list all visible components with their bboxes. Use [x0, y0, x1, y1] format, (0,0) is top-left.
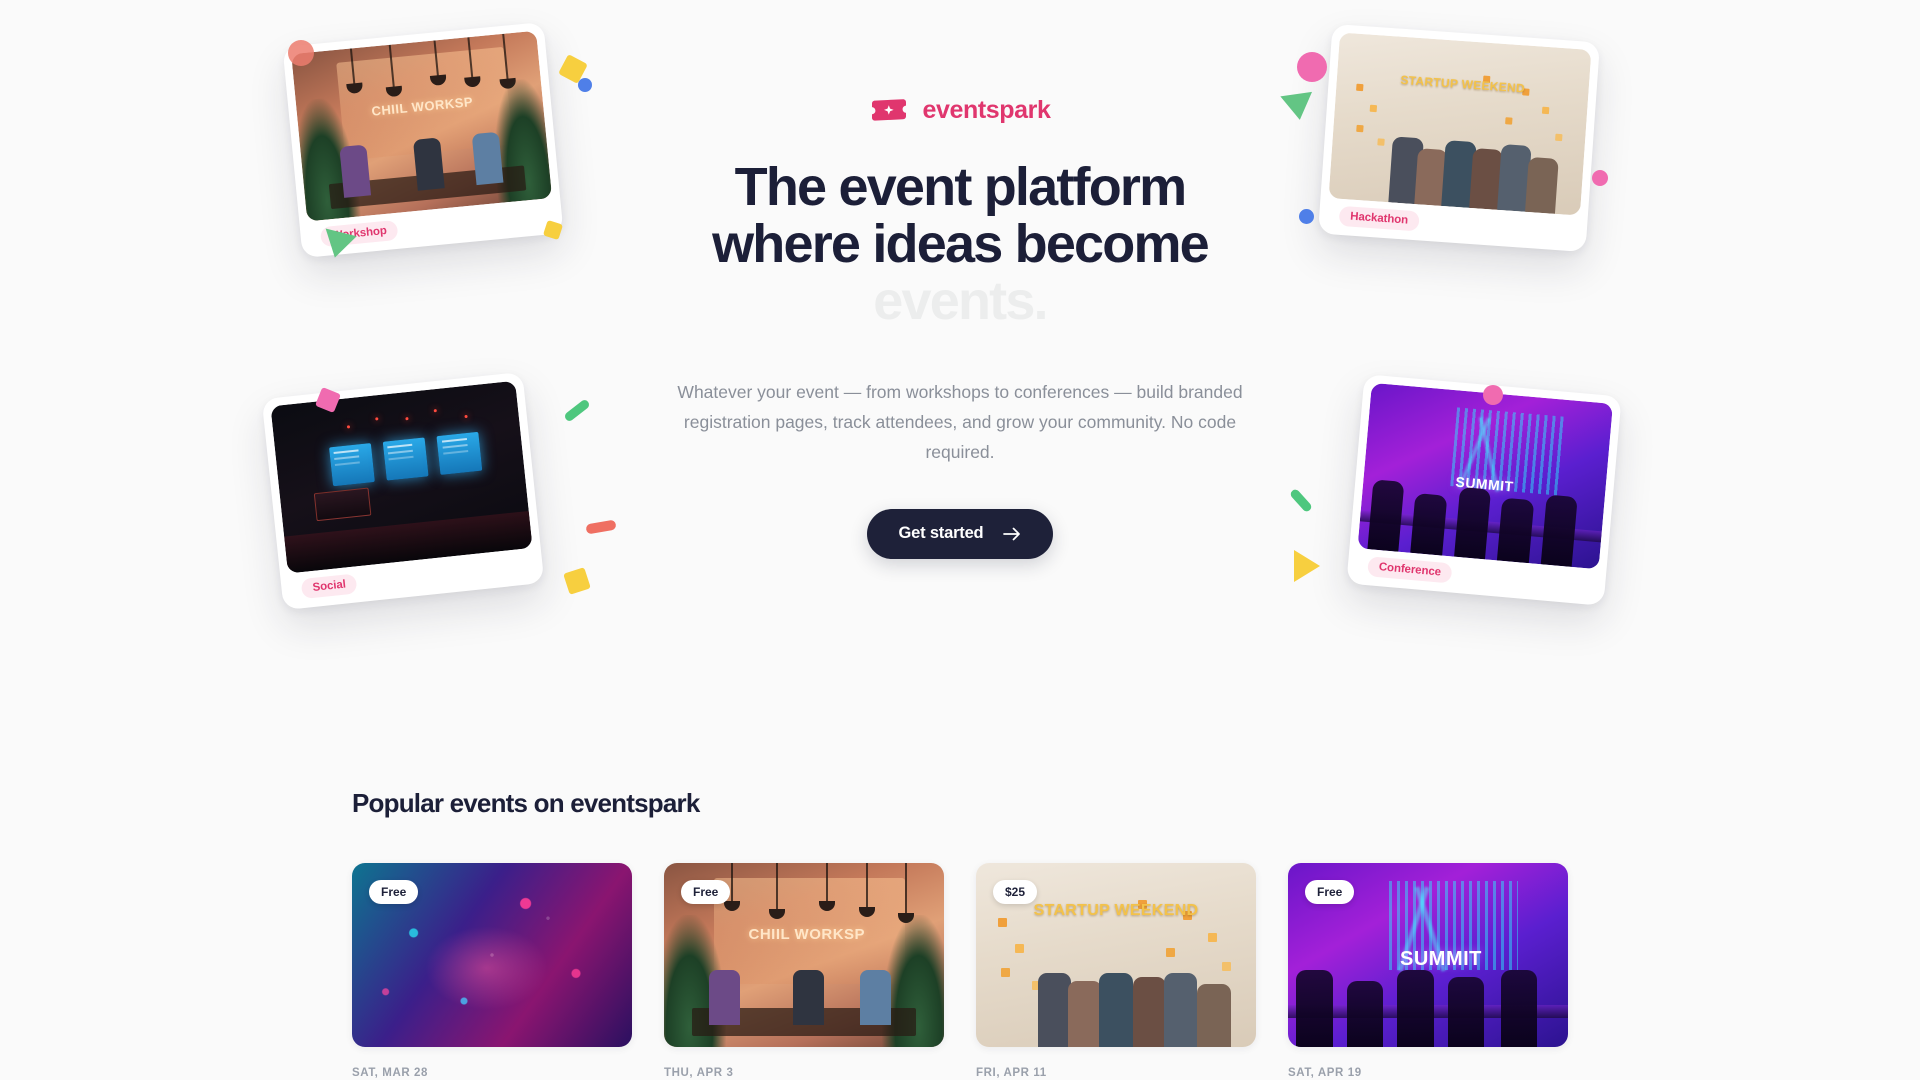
floating-card-badge: Hackathon	[1339, 206, 1420, 232]
hero-subtitle: Whatever your event — from workshops to …	[640, 377, 1280, 467]
hero-section: CHIIL WORKSP Workshop	[0, 0, 1920, 700]
ticket-sparkle-icon	[869, 97, 909, 124]
photo-caption-text: STARTUP WEEKEND	[1032, 903, 1200, 920]
photo-caption-text: SUMMIT	[1400, 948, 1562, 971]
arrow-right-icon	[1003, 527, 1021, 541]
decor-circle-blue-2	[1299, 209, 1314, 224]
event-price-badge: Free	[1305, 880, 1354, 904]
decor-circle-coral	[288, 40, 314, 66]
headline-line-2: where ideas become	[640, 216, 1280, 273]
photo-caption-text: CHIIL WORKSP	[726, 926, 888, 943]
event-price-badge: Free	[681, 880, 730, 904]
events-grid: Free SAT, MAR 28 AI hackathon CHIIL WORK…	[352, 863, 1568, 1080]
page-title: The event platform where ideas become ev…	[640, 159, 1280, 331]
floating-card-photo: CHIIL WORKSP	[291, 31, 552, 222]
decor-bar-coral	[585, 519, 616, 534]
decor-circle-pink	[1297, 52, 1327, 82]
event-date: THU, APR 3	[664, 1067, 944, 1079]
decor-bar-green	[563, 398, 591, 422]
popular-events-section: Popular events on eventspark Free SAT, M…	[0, 700, 1920, 1080]
decor-square-yellow-3	[563, 567, 591, 595]
decor-triangle-green-2	[1280, 92, 1315, 122]
section-title: Popular events on eventspark	[352, 700, 1568, 819]
get-started-label: Get started	[899, 524, 984, 543]
floating-card-badge: Social	[301, 573, 358, 599]
event-price-badge: Free	[369, 880, 418, 904]
event-date: FRI, APR 11	[976, 1067, 1256, 1079]
decor-triangle-yellow	[1294, 550, 1320, 582]
brand-logo[interactable]: eventspark	[640, 96, 1280, 125]
event-date: SAT, MAR 28	[352, 1067, 632, 1079]
floating-card-workshop[interactable]: CHIIL WORKSP Workshop	[282, 22, 563, 258]
event-price-badge: $25	[993, 880, 1037, 904]
decor-circle-pink-3	[1483, 385, 1503, 405]
event-card[interactable]: CHIIL WORKSP Free THU, APR 3 Chill cowor…	[664, 863, 944, 1080]
photo-caption-text: STARTUP WEEKEND	[1387, 72, 1539, 95]
floating-card-conference[interactable]: SUMMIT Conference	[1346, 374, 1621, 606]
event-card[interactable]: STARTUP WEEKEND $25 FRI, APR 11 Startup …	[976, 863, 1256, 1080]
decor-bar-green-2	[1289, 488, 1313, 513]
decor-square-yellow-2	[543, 220, 563, 240]
decor-circle-blue	[578, 78, 592, 92]
headline-line-1: The event platform	[640, 159, 1280, 216]
brand-name: eventspark	[922, 96, 1050, 125]
event-card[interactable]: Free SAT, MAR 28 AI hackathon	[352, 863, 632, 1080]
floating-card-photo: SUMMIT	[1357, 383, 1613, 569]
get-started-button[interactable]: Get started	[867, 509, 1054, 559]
floating-card-social[interactable]: Social	[262, 372, 545, 610]
headline-line-3: events.	[640, 273, 1280, 330]
floating-card-hackathon[interactable]: STARTUP WEEKEND Hackathon	[1318, 24, 1600, 252]
event-date: SAT, APR 19	[1288, 1067, 1568, 1079]
floating-card-photo	[270, 381, 532, 574]
floating-card-badge: Conference	[1367, 556, 1453, 583]
floating-card-photo: STARTUP WEEKEND	[1328, 32, 1591, 215]
event-card[interactable]: SUMMIT Free SAT, APR 19 Vibe coding summ…	[1288, 863, 1568, 1080]
decor-circle-pink-2	[1592, 170, 1608, 186]
